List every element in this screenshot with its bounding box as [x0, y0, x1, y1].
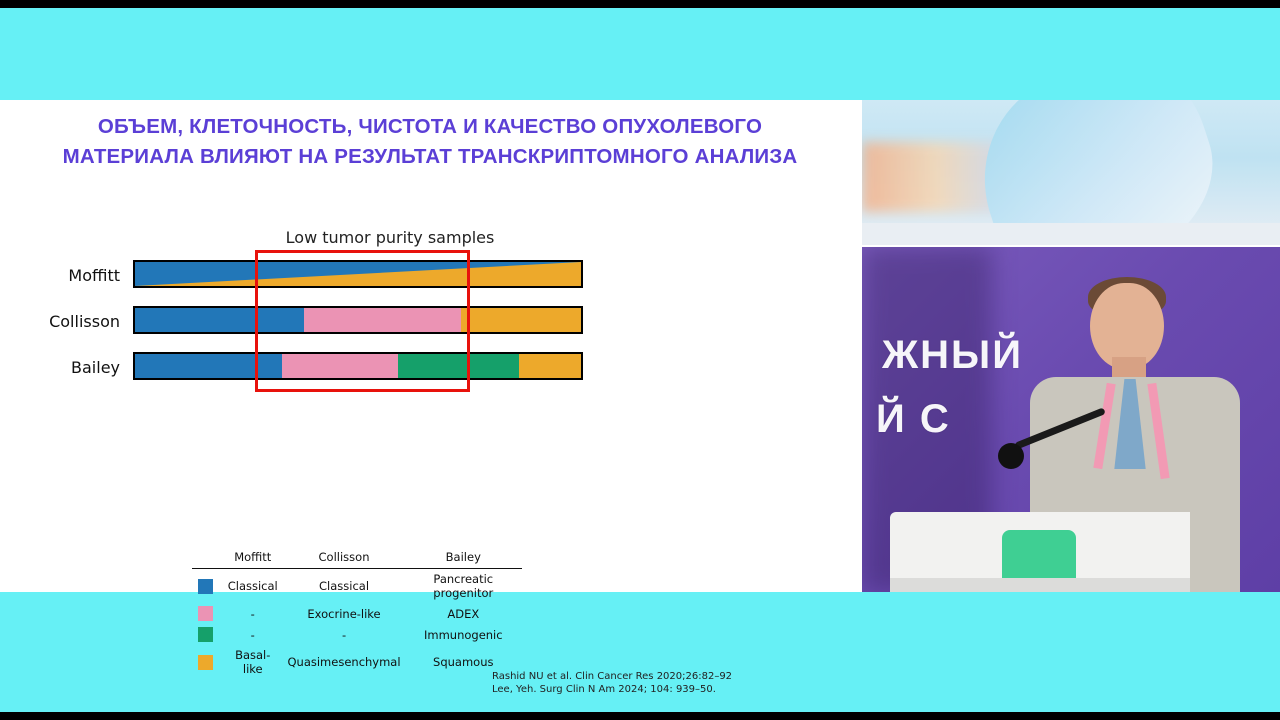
- legend-swatch-blue: [192, 569, 222, 604]
- legend-header-collisson: Collisson: [283, 548, 404, 569]
- legend-cell-bailey: Pancreatic progenitor: [405, 569, 522, 604]
- video-panel-top: [862, 100, 1280, 245]
- reference-line-2: Lee, Yeh. Surg Clin N Am 2024; 104: 939–…: [492, 683, 732, 696]
- legend-table: Moffitt Collisson Bailey Classical Class…: [192, 548, 522, 679]
- figure-legend: Moffitt Collisson Bailey Classical Class…: [192, 548, 522, 679]
- bar-row-label-bailey: Bailey: [10, 358, 120, 377]
- legend-swatch-pink: [192, 603, 222, 624]
- backdrop-text-line-2: Й С: [876, 397, 951, 442]
- legend-cell-moffitt: -: [222, 603, 283, 624]
- letterbox-bottom: [0, 712, 1280, 720]
- legend-cell-bailey: Immunogenic: [405, 624, 522, 645]
- microphone-icon: [998, 443, 1024, 469]
- legend-swatch-green: [192, 624, 222, 645]
- figure-caption: Low tumor purity samples: [260, 228, 520, 247]
- bar-row-label-collisson: Collisson: [10, 312, 120, 331]
- screenshot-stage: ОБЪЕМ, КЛЕТОЧНОСТЬ, ЧИСТОТА И КАЧЕСТВО О…: [0, 0, 1280, 720]
- video-panel-speaker: ЖНЫЙ Й С: [862, 247, 1280, 592]
- page-title: ОБЪЕМ, КЛЕТОЧНОСТЬ, ЧИСТОТА И КАЧЕСТВО О…: [30, 112, 830, 172]
- video-column: ЖНЫЙ Й С: [862, 100, 1280, 592]
- letterbox-top: [0, 0, 1280, 8]
- reference-list: Rashid NU et al. Clin Cancer Res 2020;26…: [492, 670, 732, 696]
- legend-swatch-orange: [192, 645, 222, 679]
- presentation-slide: ОБЪЕМ, КЛЕТОЧНОСТЬ, ЧИСТОТА И КАЧЕСТВО О…: [0, 100, 862, 592]
- bar-segment-collisson-quasimesenchymal: [461, 308, 581, 332]
- legend-cell-moffitt: Basal-like: [222, 645, 283, 679]
- legend-cell-moffitt: Classical: [222, 569, 283, 604]
- bar-row-label-moffitt: Moffitt: [10, 266, 120, 285]
- legend-header-moffitt: Moffitt: [222, 548, 283, 569]
- video-bottom-band: [862, 223, 1280, 245]
- legend-header-swatch: [192, 548, 222, 569]
- legend-cell-collisson: Exocrine-like: [283, 603, 404, 624]
- podium-base: [890, 578, 1190, 592]
- figure-subtype-bars: Low tumor purity samples Moffitt Colliss…: [55, 228, 615, 528]
- reference-line-1: Rashid NU et al. Clin Cancer Res 2020;26…: [492, 670, 732, 683]
- podium: [890, 512, 1190, 592]
- bar-segment-bailey-squamous: [519, 354, 581, 378]
- legend-cell-collisson: Classical: [283, 569, 404, 604]
- legend-cell-collisson: Quasimesenchymal: [283, 645, 404, 679]
- legend-cell-collisson: -: [283, 624, 404, 645]
- legend-cell-moffitt: -: [222, 624, 283, 645]
- low-purity-highlight-box: [255, 250, 470, 392]
- legend-row: - Exocrine-like ADEX: [192, 603, 522, 624]
- legend-row: Basal-like Quasimesenchymal Squamous: [192, 645, 522, 679]
- legend-row: Classical Classical Pancreatic progenito…: [192, 569, 522, 604]
- legend-header-row: Moffitt Collisson Bailey: [192, 548, 522, 569]
- legend-header-bailey: Bailey: [405, 548, 522, 569]
- legend-row: - - Immunogenic: [192, 624, 522, 645]
- backdrop-text-line-1: ЖНЫЙ: [882, 333, 1023, 378]
- legend-cell-bailey: ADEX: [405, 603, 522, 624]
